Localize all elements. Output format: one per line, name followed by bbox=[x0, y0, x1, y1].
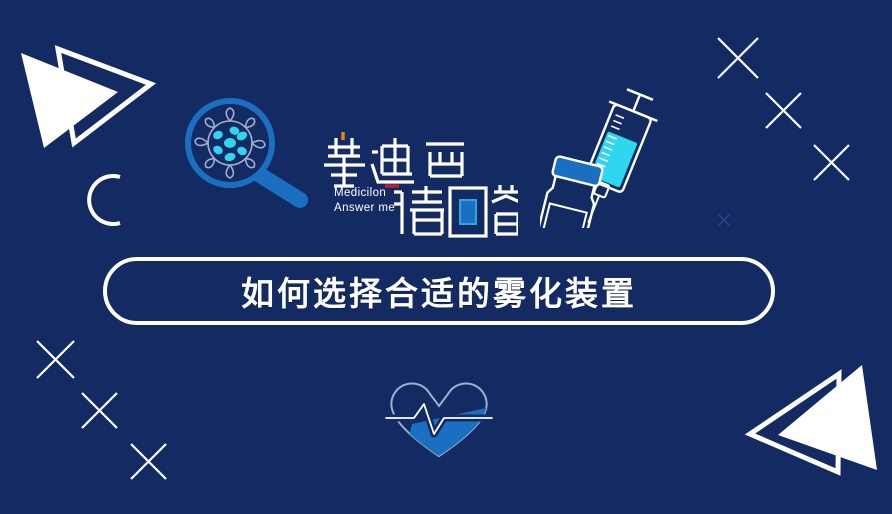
vial-label-shape bbox=[543, 203, 587, 228]
vial-cap-shape bbox=[552, 156, 603, 187]
syringe-flange-shape bbox=[627, 89, 653, 99]
brand-logo-english: Medicilon Answer me bbox=[334, 186, 420, 216]
logo-accent-blue-box bbox=[460, 200, 476, 224]
syringe-vial-icon bbox=[540, 76, 672, 228]
syringe-plunger-shape bbox=[633, 95, 640, 112]
triangle-pair-left-icon bbox=[742, 362, 892, 497]
magnifier-virus-icon bbox=[178, 92, 314, 210]
logo-char-da bbox=[492, 185, 518, 234]
page-title: 如何选择合适的雾化装置 bbox=[241, 267, 637, 315]
brand-logo-english-line2: Answer me bbox=[334, 201, 420, 216]
x-mark-icon bbox=[718, 38, 758, 78]
x-mark-icon bbox=[131, 444, 166, 479]
x-mark-icon bbox=[814, 145, 849, 180]
logo-char-di bbox=[372, 138, 414, 182]
poster-canvas: Medicilon Answer me 如何选择合适的雾化装置 bbox=[0, 0, 892, 514]
arc-stroke-shape bbox=[89, 176, 120, 224]
logo-char-xi bbox=[426, 144, 464, 176]
magnifier-handle-shape bbox=[260, 175, 300, 200]
title-pill-container: 如何选择合适的雾化装置 bbox=[103, 257, 775, 325]
arc-c-icon bbox=[84, 172, 126, 228]
brand-logo-english-line1: Medicilon bbox=[334, 186, 420, 201]
x-mark-icon bbox=[37, 341, 74, 378]
syringe-graduations-shape bbox=[611, 115, 624, 129]
brand-logo-wordmark bbox=[322, 130, 518, 240]
logo-char-mei bbox=[324, 138, 365, 186]
syringe-collar-shape bbox=[609, 102, 657, 121]
heart-pulse-icon bbox=[382, 372, 496, 460]
x-mark-icon bbox=[718, 214, 730, 226]
x-mark-icon bbox=[82, 393, 117, 428]
triangle-pair-right-icon bbox=[8, 24, 158, 154]
x-mark-icon bbox=[766, 93, 801, 128]
